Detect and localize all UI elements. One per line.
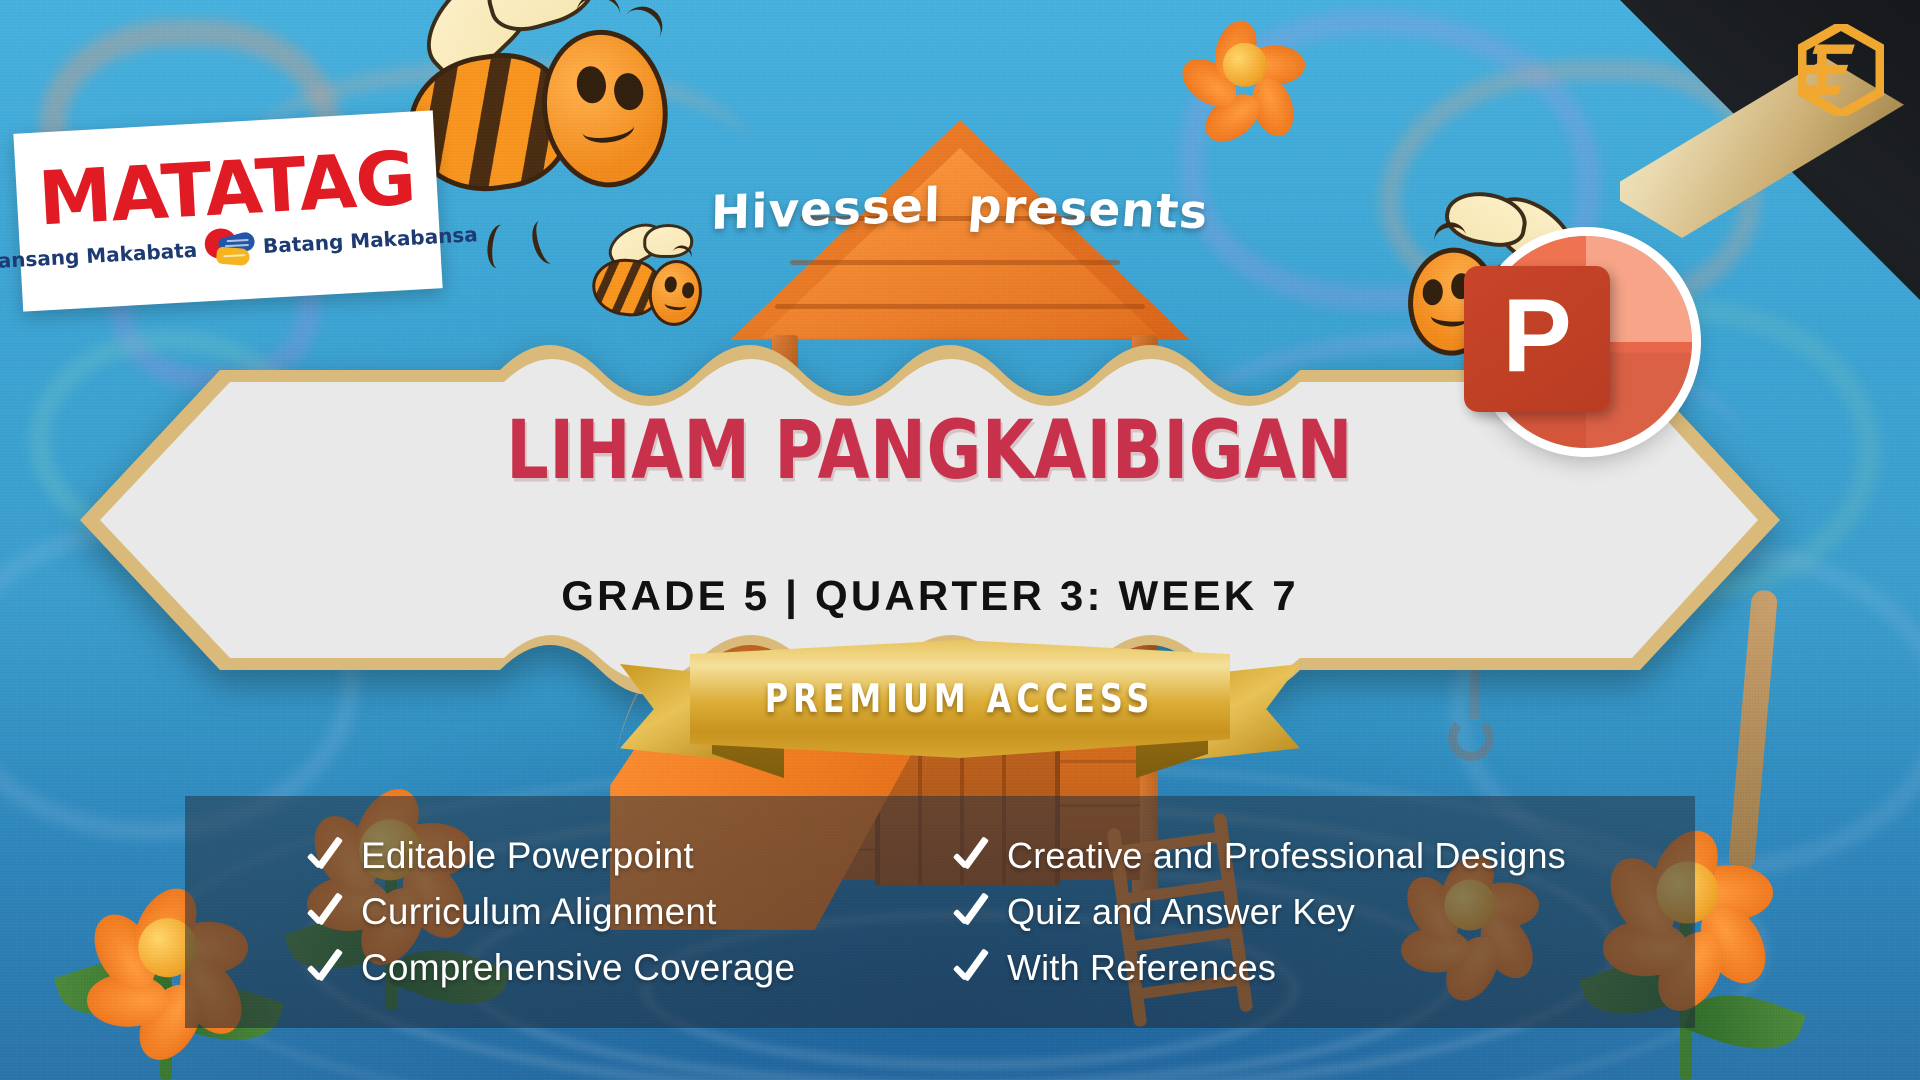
check-icon: [303, 888, 351, 936]
feature-label: Comprehensive Coverage: [361, 947, 795, 989]
check-icon: [949, 888, 997, 936]
feature-label: Curriculum Alignment: [361, 891, 717, 933]
feature-label: Editable Powerpoint: [361, 835, 694, 877]
features-column-right: Creative and Professional Designs Quiz a…: [863, 832, 1577, 992]
list-item: Creative and Professional Designs: [949, 832, 1577, 880]
feature-label: With References: [1007, 947, 1276, 989]
list-item: Comprehensive Coverage: [303, 944, 863, 992]
matatag-tagline-left: Bansang Makabata: [0, 238, 198, 274]
features-column-left: Editable Powerpoint Curriculum Alignment…: [303, 832, 863, 992]
brand-name: Hivessel: [711, 178, 942, 241]
list-item: With References: [949, 944, 1577, 992]
ribbon-banner: PREMIUM ACCESS: [690, 640, 1230, 758]
clasped-hands-icon: [202, 227, 258, 270]
premium-access-label: PREMIUM ACCESS: [765, 677, 1155, 722]
list-item: Editable Powerpoint: [303, 832, 863, 880]
premium-access-ribbon: PREMIUM ACCESS: [620, 640, 1300, 790]
matatag-tagline-right: Batang Makabansa: [262, 222, 478, 258]
hexagon-hive-logo-icon: [1798, 24, 1884, 116]
page-title: LIHAM PANGKAIBIGAN: [507, 410, 1354, 491]
check-icon: [949, 944, 997, 992]
page-curl-corner: [1620, 0, 1920, 300]
slide-canvas: MATATAG Bansang Makabata Batang Makabans…: [0, 0, 1920, 1080]
feature-label: Quiz and Answer Key: [1007, 891, 1355, 933]
grade-quarter-week-label: GRADE 5 | QUARTER 3: WEEK 7: [561, 572, 1299, 620]
check-icon: [949, 832, 997, 880]
powerpoint-letter-tile: P: [1464, 266, 1610, 412]
list-item: Quiz and Answer Key: [949, 888, 1577, 936]
matatag-logo-card: MATATAG Bansang Makabata Batang Makabans…: [13, 110, 442, 311]
feature-label: Creative and Professional Designs: [1007, 835, 1566, 877]
presents-word: presents: [966, 179, 1210, 240]
check-icon: [303, 832, 351, 880]
powerpoint-letter: P: [1502, 284, 1571, 388]
check-icon: [303, 944, 351, 992]
list-item: Curriculum Alignment: [303, 888, 863, 936]
features-bar: Editable Powerpoint Curriculum Alignment…: [185, 796, 1695, 1028]
